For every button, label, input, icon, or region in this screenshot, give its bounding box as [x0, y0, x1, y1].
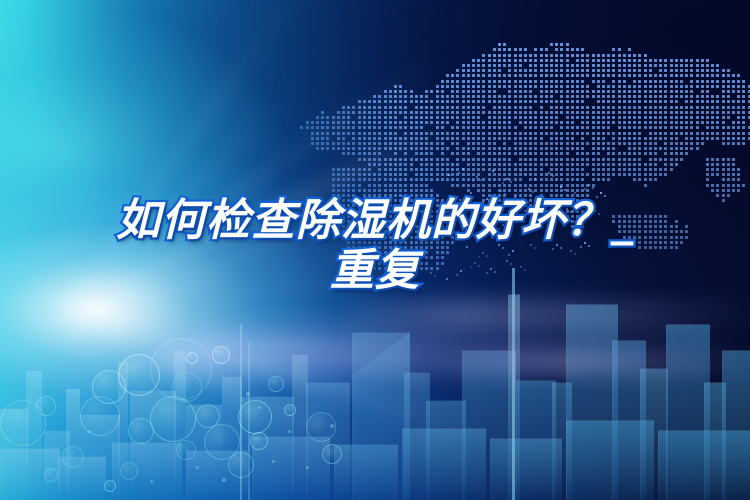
bubble: [128, 418, 154, 444]
bubble: [238, 400, 272, 434]
bubble: [176, 440, 196, 460]
bubble: [104, 480, 116, 492]
bubble: [212, 346, 230, 364]
bubble: [150, 396, 196, 442]
title-line-1: 如何检查除湿机的好坏？_: [0, 196, 750, 246]
bubble: [186, 352, 198, 364]
bubble: [250, 432, 268, 450]
title-line-2: 重复: [0, 246, 750, 296]
banner-image: 如何检查除湿机的好坏？_ 重复: [0, 0, 750, 500]
bubble: [120, 462, 138, 480]
bubble: [284, 404, 296, 416]
bubble: [322, 444, 342, 464]
bubble: [62, 446, 84, 468]
banner-title: 如何检查除湿机的好坏？_ 重复: [0, 196, 750, 296]
bubble: [80, 396, 120, 436]
bubble: [44, 468, 58, 482]
bubble: [36, 396, 56, 416]
bubble: [228, 452, 254, 478]
bubble: [268, 376, 284, 392]
